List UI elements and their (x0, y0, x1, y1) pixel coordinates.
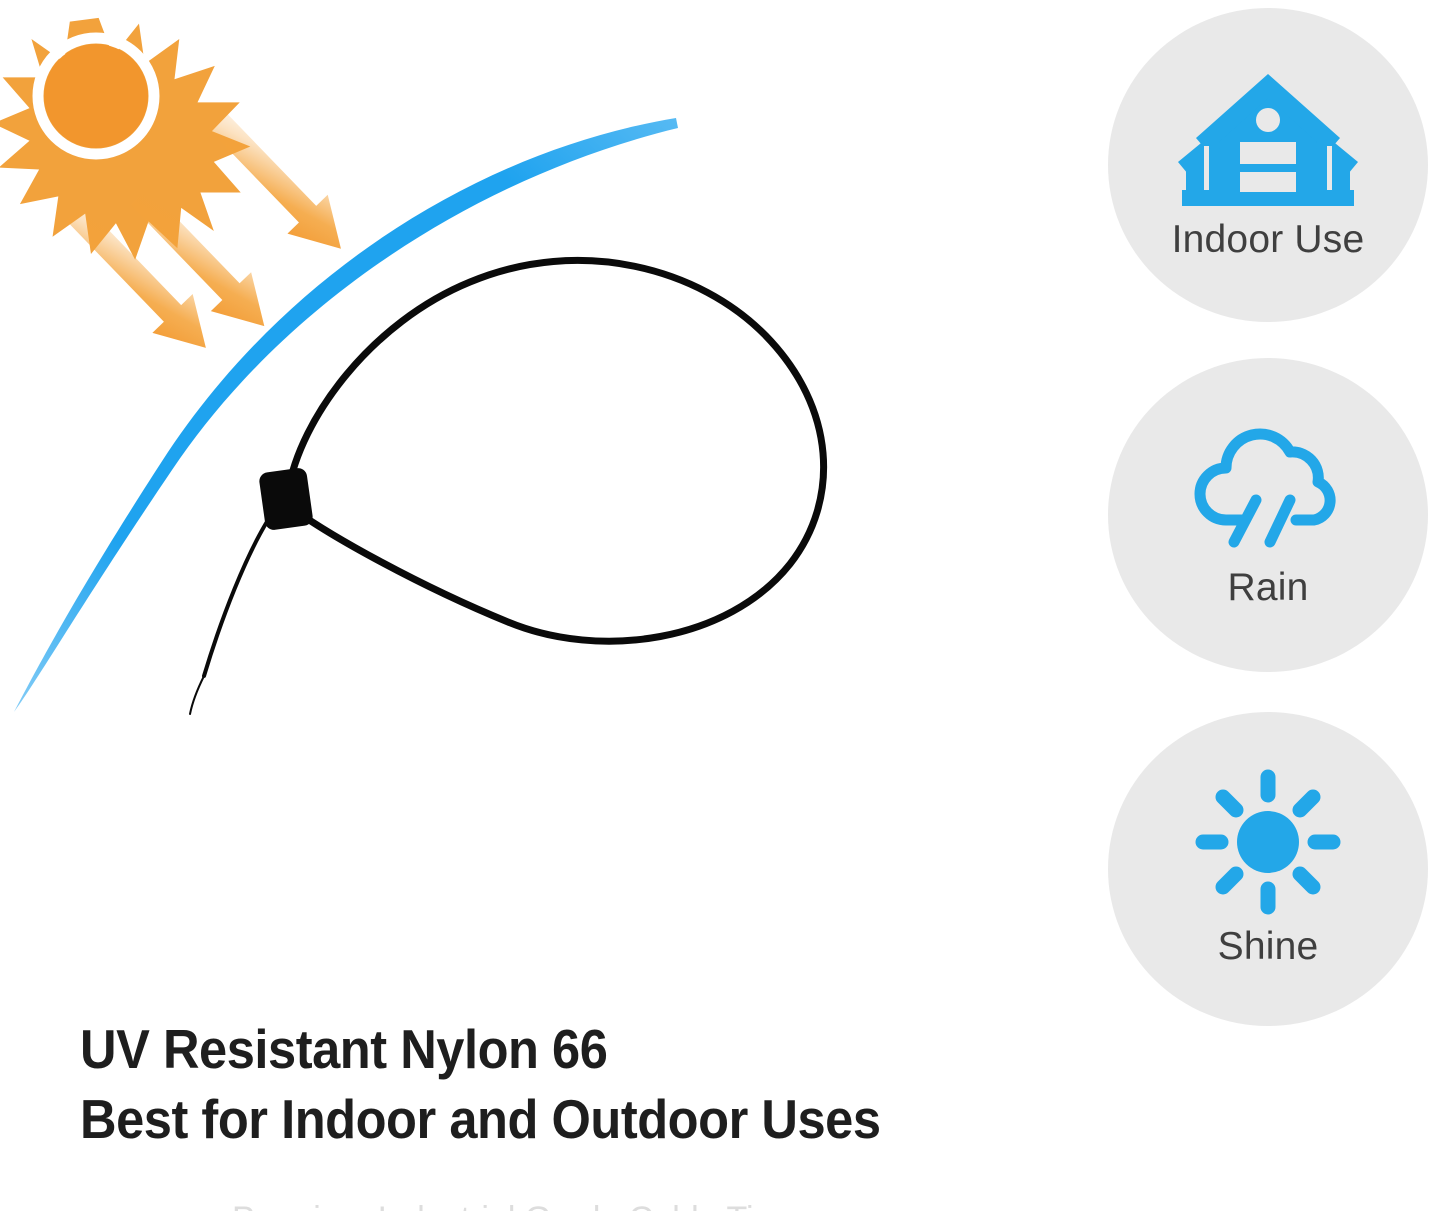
sun-icon (1192, 769, 1344, 915)
badge-rain[interactable]: Rain (1108, 358, 1428, 672)
badge-label-rain: Rain (1227, 566, 1308, 610)
cable-tie-head (258, 467, 314, 531)
rain-cloud-icon (1178, 420, 1358, 556)
uv-resistance-illustration (0, 0, 1100, 1000)
badge-label-indoor-use: Indoor Use (1172, 218, 1365, 262)
headline-line-1: UV Resistant Nylon 66 (80, 1014, 1000, 1084)
headline-block: UV Resistant Nylon 66 Best for Indoor an… (80, 1014, 1080, 1154)
headline-line-2: Best for Indoor and Outdoor Uses (80, 1084, 1000, 1154)
product-infographic: Indoor Use Rain (0, 0, 1432, 1211)
badge-label-shine: Shine (1218, 925, 1319, 969)
feature-badge-column: Indoor Use Rain (1108, 0, 1432, 1030)
sun-burst-icon (0, 18, 250, 260)
badge-shine[interactable]: Shine (1108, 712, 1428, 1026)
house-icon (1178, 68, 1358, 208)
cutoff-text: Premium Industrial Grade Cable Ties (232, 1203, 932, 1211)
cutoff-text-strip: Premium Industrial Grade Cable Ties (232, 1203, 932, 1211)
badge-indoor-use[interactable]: Indoor Use (1108, 8, 1428, 322)
